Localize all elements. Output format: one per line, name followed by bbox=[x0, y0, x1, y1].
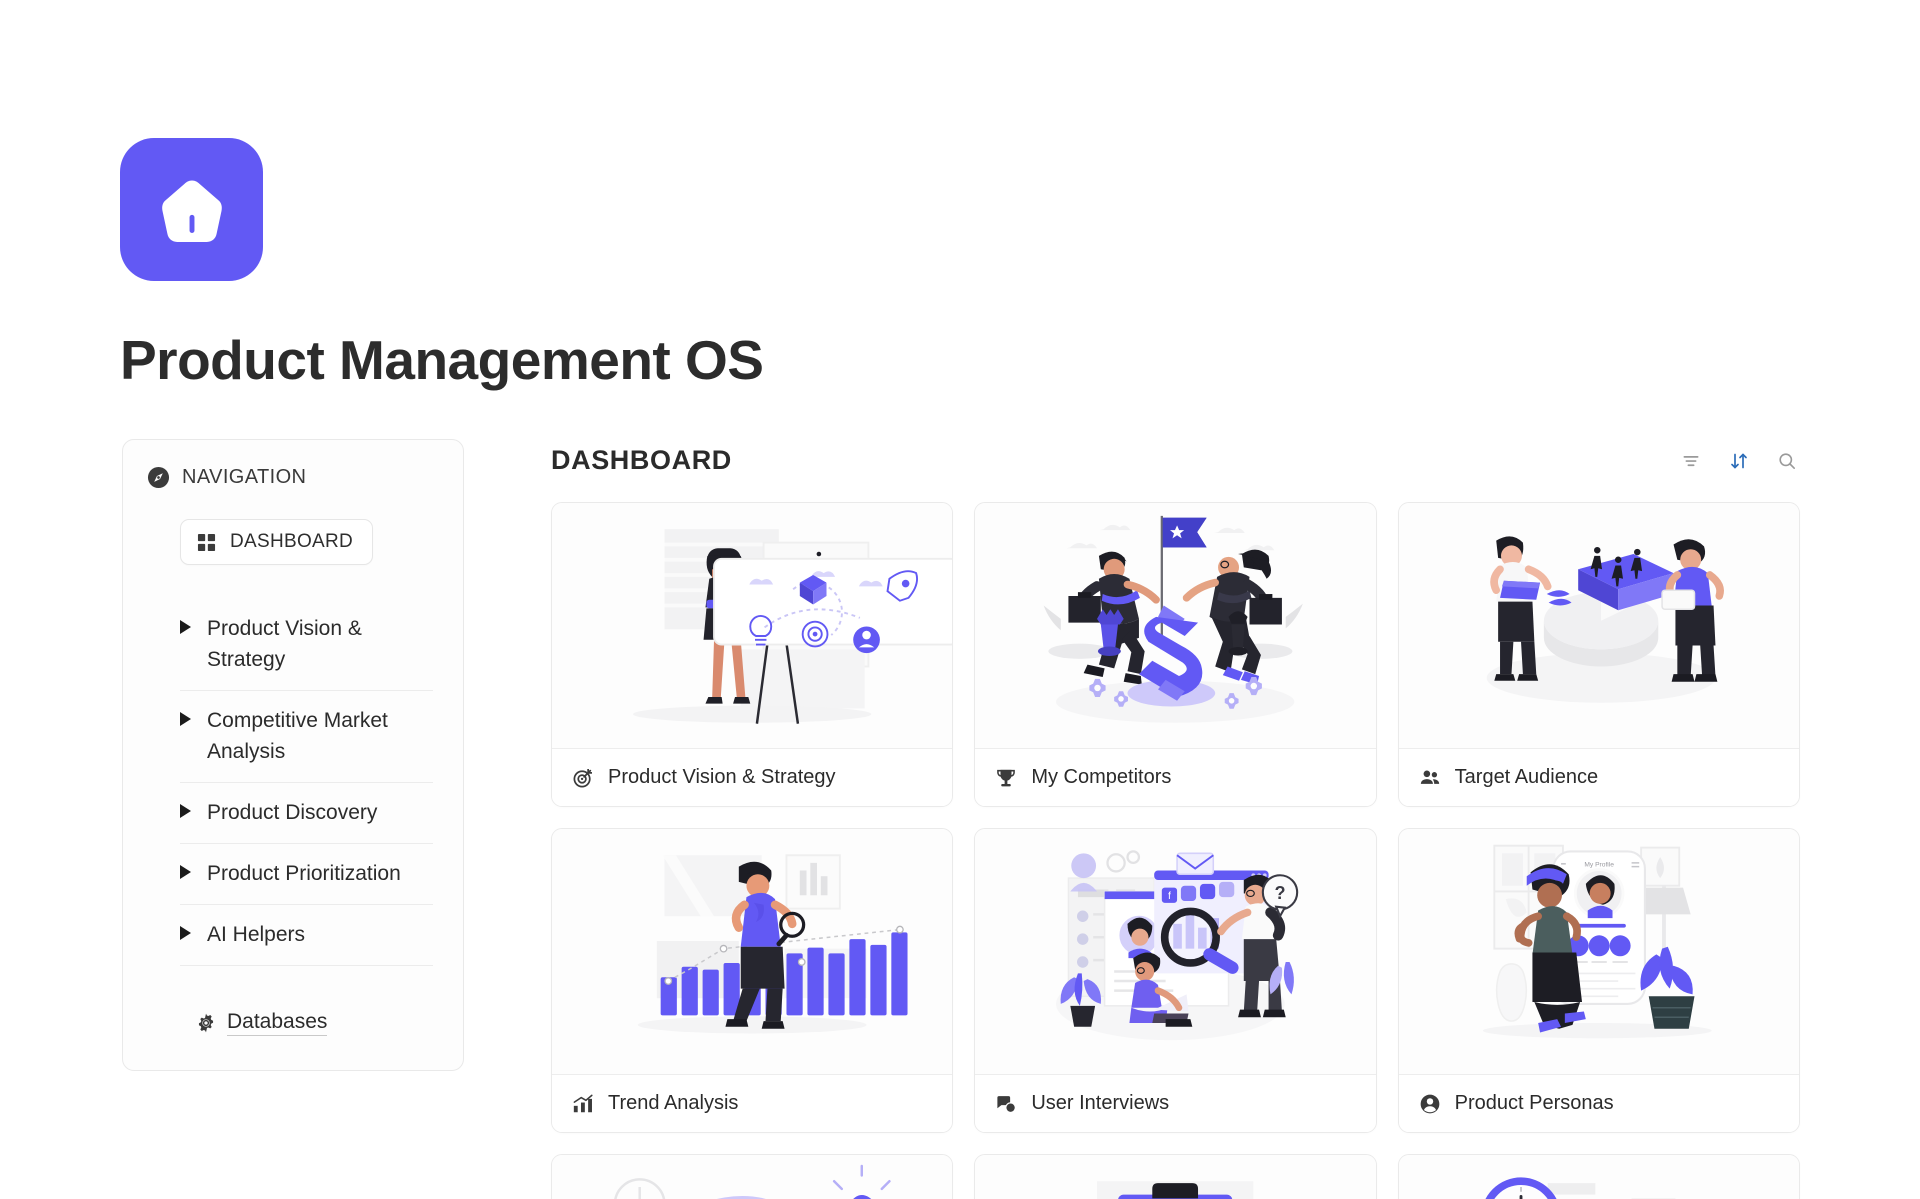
sidebar-item-product-vision-strategy[interactable]: Product Vision & Strategy bbox=[180, 599, 433, 691]
card-illustration: My Profile bbox=[1399, 829, 1799, 1074]
card-illustration: ? bbox=[552, 1155, 952, 1199]
dashboard-button-label: DASHBOARD bbox=[230, 531, 353, 553]
sort-icon bbox=[1729, 451, 1749, 471]
caret-right-icon bbox=[180, 804, 193, 818]
card-illustration bbox=[975, 503, 1375, 748]
sidebar-item-product-discovery[interactable]: Product Discovery bbox=[180, 783, 433, 844]
house-pentagon-icon bbox=[151, 169, 233, 251]
card-footer: Product Personas bbox=[1399, 1074, 1799, 1132]
card-illustration bbox=[1399, 1155, 1799, 1199]
main-header: DASHBOARD bbox=[551, 445, 1800, 502]
pie-chart-audience-illustration bbox=[1399, 503, 1799, 748]
card-bottom-row-1[interactable]: ? bbox=[551, 1154, 953, 1199]
gear-icon bbox=[195, 1012, 217, 1034]
page-header: Product Management OS bbox=[0, 0, 1920, 392]
card-label: User Interviews bbox=[1031, 1092, 1169, 1115]
card-illustration bbox=[975, 1155, 1375, 1199]
page-title: Product Management OS bbox=[120, 329, 1920, 392]
card-label: Target Audience bbox=[1455, 766, 1598, 789]
card-label: Product Vision & Strategy bbox=[608, 766, 836, 789]
search-button[interactable] bbox=[1774, 448, 1800, 474]
card-footer: User Interviews bbox=[975, 1074, 1375, 1132]
sidebar-item-ai-helpers[interactable]: AI Helpers bbox=[180, 905, 433, 966]
card-footer: Trend Analysis bbox=[552, 1074, 952, 1132]
card-product-vision-strategy[interactable]: Product Vision & Strategy bbox=[551, 502, 953, 807]
card-bottom-row-2[interactable] bbox=[974, 1154, 1376, 1199]
navigation-header-label: NAVIGATION bbox=[182, 466, 306, 489]
main-title: DASHBOARD bbox=[551, 445, 732, 476]
card-user-interviews[interactable]: f bbox=[974, 828, 1376, 1133]
sidebar-item-dashboard[interactable]: DASHBOARD bbox=[180, 519, 373, 565]
card-footer: Target Audience bbox=[1399, 748, 1799, 806]
sidebar-item-label: Product Vision & Strategy bbox=[207, 613, 407, 675]
woman-mobile-profile-illustration: My Profile bbox=[1399, 829, 1799, 1074]
card-illustration bbox=[552, 503, 952, 748]
card-label: Product Personas bbox=[1455, 1092, 1614, 1115]
sort-button[interactable] bbox=[1726, 448, 1752, 474]
filter-icon bbox=[1681, 451, 1701, 471]
woman-presenting-whiteboard-illustration bbox=[552, 503, 952, 748]
search-icon bbox=[1777, 451, 1797, 471]
databases-label: Databases bbox=[227, 1010, 327, 1036]
people-group-icon bbox=[1419, 767, 1441, 789]
svg-text:?: ? bbox=[1275, 883, 1286, 903]
navigation-sidebar: NAVIGATION DASHBOARD Product Vision & St… bbox=[122, 439, 464, 1071]
two-people-racing-to-flag-illustration bbox=[975, 503, 1375, 748]
card-my-competitors[interactable]: My Competitors bbox=[974, 502, 1376, 807]
dashboard-page: Product Management OS NAVIGATION bbox=[0, 0, 1920, 1199]
card-footer: My Competitors bbox=[975, 748, 1375, 806]
compass-icon bbox=[147, 466, 170, 489]
man-with-magnifier-bar-chart-illustration bbox=[552, 829, 952, 1074]
svg-text:My Profile: My Profile bbox=[1584, 862, 1614, 869]
grid-icon bbox=[197, 533, 216, 552]
speech-bubbles-icon bbox=[995, 1093, 1017, 1115]
sidebar-item-label: Competitive Market Analysis bbox=[207, 705, 407, 767]
card-footer: Product Vision & Strategy bbox=[552, 748, 952, 806]
account-circle-icon bbox=[1419, 1093, 1441, 1115]
caret-right-icon bbox=[180, 712, 193, 726]
card-illustration: f bbox=[975, 829, 1375, 1074]
page-body: NAVIGATION DASHBOARD Product Vision & St… bbox=[0, 439, 1920, 1199]
card-illustration bbox=[552, 829, 952, 1074]
target-icon bbox=[572, 767, 594, 789]
card-trend-analysis[interactable]: Trend Analysis bbox=[551, 828, 953, 1133]
sidebar-item-label: Product Prioritization bbox=[207, 858, 401, 889]
users-profiles-magnifier-illustration: f bbox=[975, 829, 1375, 1074]
card-label: Trend Analysis bbox=[608, 1092, 738, 1115]
sidebar-item-product-prioritization[interactable]: Product Prioritization bbox=[180, 844, 433, 905]
dashboard-card-grid: Product Vision & Strategy bbox=[551, 502, 1800, 1199]
sidebar-item-label: AI Helpers bbox=[207, 919, 305, 950]
sidebar-item-competitive-market-analysis[interactable]: Competitive Market Analysis bbox=[180, 691, 433, 783]
card-label: My Competitors bbox=[1031, 766, 1171, 789]
sidebar-item-label: Product Discovery bbox=[207, 797, 377, 828]
card-target-audience[interactable]: Target Audience bbox=[1398, 502, 1800, 807]
caret-right-icon bbox=[180, 620, 193, 634]
clipboard-checklist-team-illustration bbox=[975, 1155, 1375, 1199]
app-logo bbox=[120, 138, 263, 281]
svg-text:f: f bbox=[1168, 891, 1171, 902]
main-content: DASHBOARD bbox=[464, 439, 1920, 1199]
kanban-board-clock-illustration bbox=[1399, 1155, 1799, 1199]
woman-maze-lightbulb-illustration: ? bbox=[552, 1155, 952, 1199]
caret-right-icon bbox=[180, 926, 193, 940]
caret-right-icon bbox=[180, 865, 193, 879]
filter-button[interactable] bbox=[1678, 448, 1704, 474]
card-bottom-row-3[interactable] bbox=[1398, 1154, 1800, 1199]
bar-chart-icon bbox=[572, 1093, 594, 1115]
sidebar-nav-list: Product Vision & Strategy Competitive Ma… bbox=[180, 599, 433, 966]
view-toolbar bbox=[1678, 448, 1800, 474]
card-illustration bbox=[1399, 503, 1799, 748]
navigation-header: NAVIGATION bbox=[147, 466, 433, 489]
trophy-icon bbox=[995, 767, 1017, 789]
card-product-personas[interactable]: My Profile bbox=[1398, 828, 1800, 1133]
sidebar-item-databases[interactable]: Databases bbox=[195, 1010, 433, 1036]
